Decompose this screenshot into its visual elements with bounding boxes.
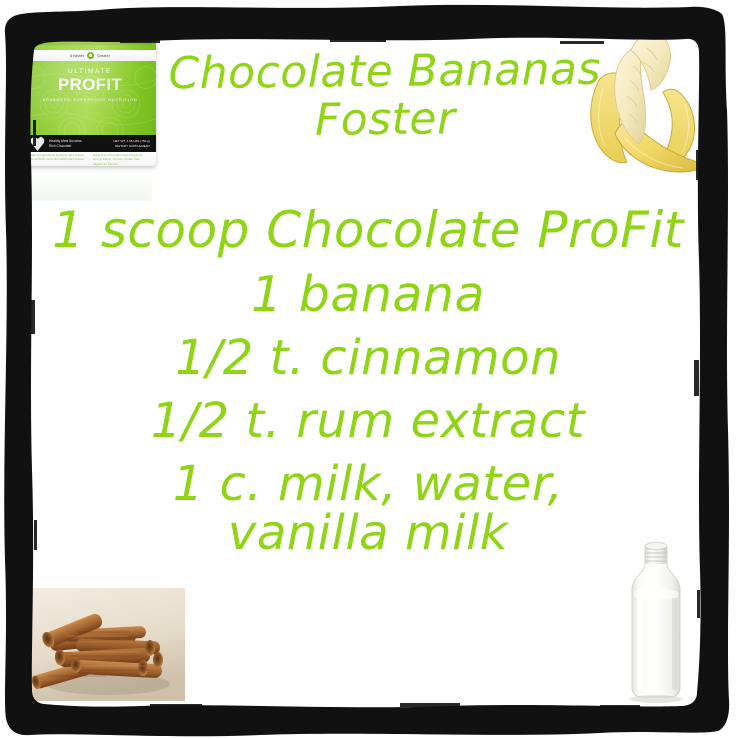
pouch-fit-text: FIT bbox=[96, 75, 122, 94]
pouch-weight-text: NET WT. 1.65 LBS (750 g) DIETARY SUPPLEM… bbox=[113, 139, 150, 148]
cinnamon-sticks-photo bbox=[30, 588, 185, 701]
pouch-ultimate-label: ULTIMATE bbox=[24, 68, 156, 75]
pouch-footer-band: Healthy Meal Success Rich Chocolate NET … bbox=[24, 135, 156, 152]
pouch-tagline: ADVANCED SUPERFOOD NUTRITION bbox=[24, 97, 156, 102]
ingredient-list: 1 scoop Chocolate ProFit 1 banana 1/2 t.… bbox=[14, 205, 722, 558]
ingredient-line: 1/2 t. cinnamon bbox=[14, 334, 722, 383]
pouch-weight-line-1: NET WT. 1.65 LBS (750 g) bbox=[113, 139, 150, 143]
ingredient-line: 1 banana bbox=[14, 270, 722, 320]
recipe-card: A Newer Greater ULTIMATE PROFIT ADVANCED… bbox=[0, 0, 736, 739]
ingredient-line: 1/2 t. rum extract bbox=[14, 397, 722, 446]
pouch-brand-right: Greater bbox=[97, 54, 110, 58]
pouch-flavor-line-1: Healthy Meal Success bbox=[49, 139, 82, 143]
pouch-flavor-text: Healthy Meal Success Rich Chocolate bbox=[49, 139, 113, 149]
pouch-bullets-left: Natural ingredients Supports lean muscle… bbox=[30, 154, 87, 166]
pouch-brand-left: A Newer bbox=[70, 54, 84, 58]
product-pouch: A Newer Greater ULTIMATE PROFIT ADVANCED… bbox=[24, 26, 156, 166]
pouch-pro-text: PRO bbox=[58, 75, 96, 94]
brand-logo-icon bbox=[87, 52, 94, 59]
pouch-reflection bbox=[28, 168, 152, 201]
pouch-weight-line-2: DIETARY SUPPLEMENT bbox=[115, 144, 150, 148]
pouch-bullet-strip: Natural ingredients Supports lean muscle… bbox=[24, 152, 156, 166]
heart-seal-icon bbox=[30, 136, 45, 151]
ingredient-line: 1 scoop Chocolate ProFit bbox=[14, 205, 722, 256]
pouch-bullets-right: Superfood antioxidant blend Supports ene… bbox=[93, 154, 150, 166]
milk-bottle-photo bbox=[620, 536, 692, 704]
pouch-brand-band: A Newer Greater bbox=[24, 50, 156, 61]
pouch-title-area: ULTIMATE PROFIT ADVANCED SUPERFOOD NUTRI… bbox=[24, 68, 156, 102]
pouch-zipper bbox=[27, 30, 153, 45]
pouch-flavor-line-2: Rich Chocolate bbox=[49, 144, 71, 148]
ingredient-line: 1 c. milk, water, vanilla milk bbox=[14, 460, 722, 558]
product-pouch-image: A Newer Greater ULTIMATE PROFIT ADVANCED… bbox=[24, 26, 156, 201]
pouch-profit-label: PROFIT bbox=[24, 76, 156, 94]
recipe-title: Chocolate Bananas Foster bbox=[150, 46, 621, 148]
